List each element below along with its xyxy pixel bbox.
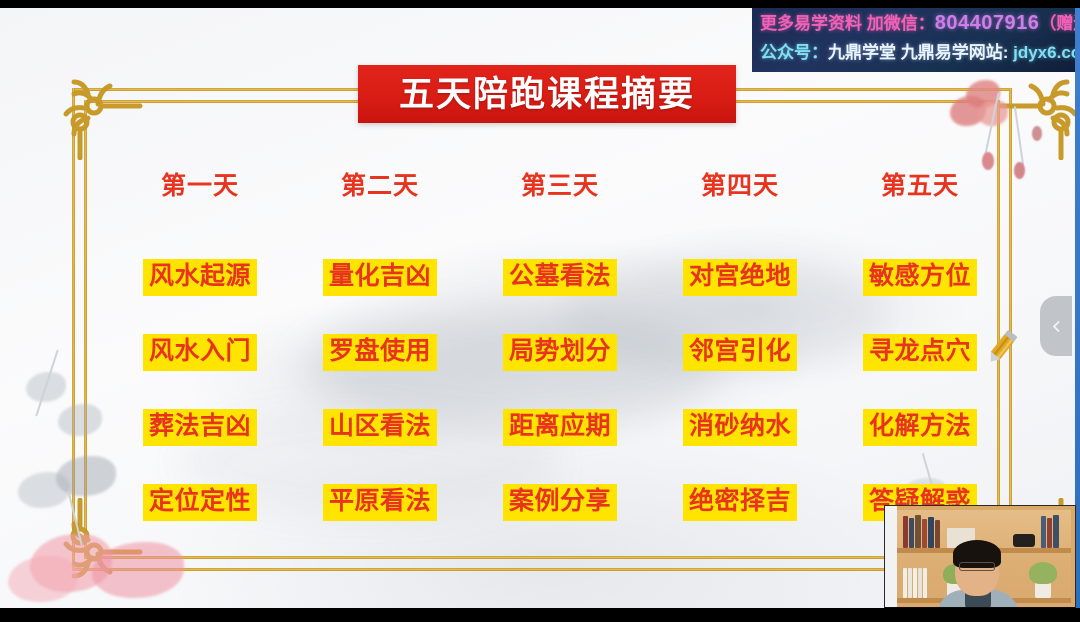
day-header-label: 第五天 <box>881 174 959 199</box>
plant-pot <box>1035 582 1051 598</box>
frame-border-bottom-outer <box>72 568 1012 571</box>
table-cell: 敏感方位 <box>830 259 1010 296</box>
table-cell: 山区看法 <box>290 409 470 446</box>
book <box>909 518 914 548</box>
book <box>928 517 934 548</box>
promo-account-name: 九鼎学堂 九鼎易学网站: <box>828 43 1008 62</box>
page-title: 五天陪跑课程摘要 <box>399 77 695 112</box>
table-header-cell: 第五天 <box>830 174 1010 199</box>
book <box>903 516 908 548</box>
promo-account-label: 公众号： <box>760 43 828 62</box>
topic-label: 罗盘使用 <box>323 334 437 371</box>
topic-label: 距离应期 <box>503 409 617 446</box>
table-row: 风水入门 罗盘使用 局势划分 邻宫引化 寻龙点穴 <box>110 315 1010 390</box>
promo-wechat-suffix: （赠送资料 <box>1039 14 1080 33</box>
table-cell: 距离应期 <box>470 409 650 446</box>
ink-flower-decoration-left <box>6 308 126 468</box>
table-row: 定位定性 平原看法 案例分享 绝密择吉 答疑解惑 <box>110 465 1010 540</box>
letterbox-bottom <box>0 608 1080 622</box>
topic-label: 对宫绝地 <box>683 259 797 296</box>
promo-website-url: jdyx6.com <box>1013 43 1080 62</box>
pencil-icon[interactable] <box>986 324 1020 368</box>
topic-label: 绝密择吉 <box>683 484 797 521</box>
chevron-left-icon[interactable] <box>1040 296 1072 356</box>
table-cell: 风水起源 <box>110 259 290 296</box>
topic-label: 局势划分 <box>503 334 617 371</box>
table-cell: 定位定性 <box>110 484 290 521</box>
book <box>1053 515 1059 548</box>
promo-watermark-banner: 更多易学资料 加微信：804407916（赠送资料 公众号：九鼎学堂 九鼎易学网… <box>752 4 1080 72</box>
book <box>1047 518 1052 548</box>
topic-label: 寻龙点穴 <box>863 334 977 371</box>
table-row: 风水起源 量化吉凶 公墓看法 对宫绝地 敏感方位 <box>110 240 1010 315</box>
topic-label: 平原看法 <box>323 484 437 521</box>
book <box>915 515 921 548</box>
day-header-label: 第四天 <box>701 174 779 199</box>
slide-title-banner: 五天陪跑课程摘要 <box>358 65 736 123</box>
topic-label: 定位定性 <box>143 484 257 521</box>
table-cell: 公墓看法 <box>470 259 650 296</box>
table-cell: 对宫绝地 <box>650 259 830 296</box>
promo-line-1: 更多易学资料 加微信：804407916（赠送资料 <box>760 8 1080 38</box>
promo-wechat-label: 更多易学资料 加微信： <box>760 14 935 33</box>
plant <box>1029 562 1057 584</box>
table-cell: 邻宫引化 <box>650 334 830 371</box>
book <box>923 568 927 598</box>
book <box>1041 516 1046 548</box>
table-cell: 寻龙点穴 <box>830 334 1010 371</box>
table-cell: 消砂纳水 <box>650 409 830 446</box>
table-header-cell: 第二天 <box>290 174 470 199</box>
frame-border-left-inner <box>84 100 87 559</box>
topic-label: 葬法吉凶 <box>143 409 257 446</box>
table-header-cell: 第一天 <box>110 174 290 199</box>
topic-label: 案例分享 <box>503 484 617 521</box>
glasses-icon <box>959 562 995 571</box>
book <box>903 568 907 598</box>
book <box>908 568 912 598</box>
table-cell: 化解方法 <box>830 409 1010 446</box>
table-cell: 绝密择吉 <box>650 484 830 521</box>
topic-label: 公墓看法 <box>503 259 617 296</box>
screen-share-view: 五天陪跑课程摘要 第一天 第二天 第三天 第四天 第五天 风水起源 量化吉凶 公… <box>0 0 1080 622</box>
topic-label: 量化吉凶 <box>323 259 437 296</box>
frame-border-left-outer <box>72 88 75 571</box>
topic-label: 山区看法 <box>323 409 437 446</box>
book <box>1013 534 1035 547</box>
table-cell: 局势划分 <box>470 334 650 371</box>
topic-label: 风水起源 <box>143 259 257 296</box>
topic-label: 消砂纳水 <box>683 409 797 446</box>
table-row: 葬法吉凶 山区看法 距离应期 消砂纳水 化解方法 <box>110 390 1010 465</box>
letterbox-top <box>0 0 1080 8</box>
webcam-scene <box>885 506 1075 621</box>
course-outline-table: 第一天 第二天 第三天 第四天 第五天 风水起源 量化吉凶 公墓看法 对宫绝地 … <box>110 158 1010 540</box>
table-cell: 案例分享 <box>470 484 650 521</box>
topic-label: 化解方法 <box>863 409 977 446</box>
topic-label: 敏感方位 <box>863 259 977 296</box>
table-cell: 风水入门 <box>110 334 290 371</box>
table-cell: 量化吉凶 <box>290 259 470 296</box>
book <box>913 568 917 598</box>
table-cell: 平原看法 <box>290 484 470 521</box>
ornament-corner-top-left <box>58 74 144 160</box>
topic-label: 邻宫引化 <box>683 334 797 371</box>
webcam-video-pip[interactable] <box>884 505 1076 622</box>
webcam-left-letterbox <box>885 506 897 621</box>
promo-line-2: 公众号：九鼎学堂 九鼎易学网站: jdyx6.com <box>760 38 1080 68</box>
promo-wechat-number: 804407916 <box>935 12 1040 34</box>
topic-label: 风水入门 <box>143 334 257 371</box>
table-header-row: 第一天 第二天 第三天 第四天 第五天 <box>110 158 1010 214</box>
table-header-cell: 第三天 <box>470 174 650 199</box>
table-header-cell: 第四天 <box>650 174 830 199</box>
table-cell: 罗盘使用 <box>290 334 470 371</box>
table-cell: 葬法吉凶 <box>110 409 290 446</box>
book <box>935 520 940 548</box>
day-header-label: 第三天 <box>521 174 599 199</box>
frame-border-bottom-inner <box>84 556 1000 559</box>
ornament-corner-top-right <box>997 74 1080 160</box>
day-header-label: 第一天 <box>161 174 239 199</box>
book <box>922 519 927 548</box>
day-header-label: 第二天 <box>341 174 419 199</box>
book <box>918 568 922 598</box>
